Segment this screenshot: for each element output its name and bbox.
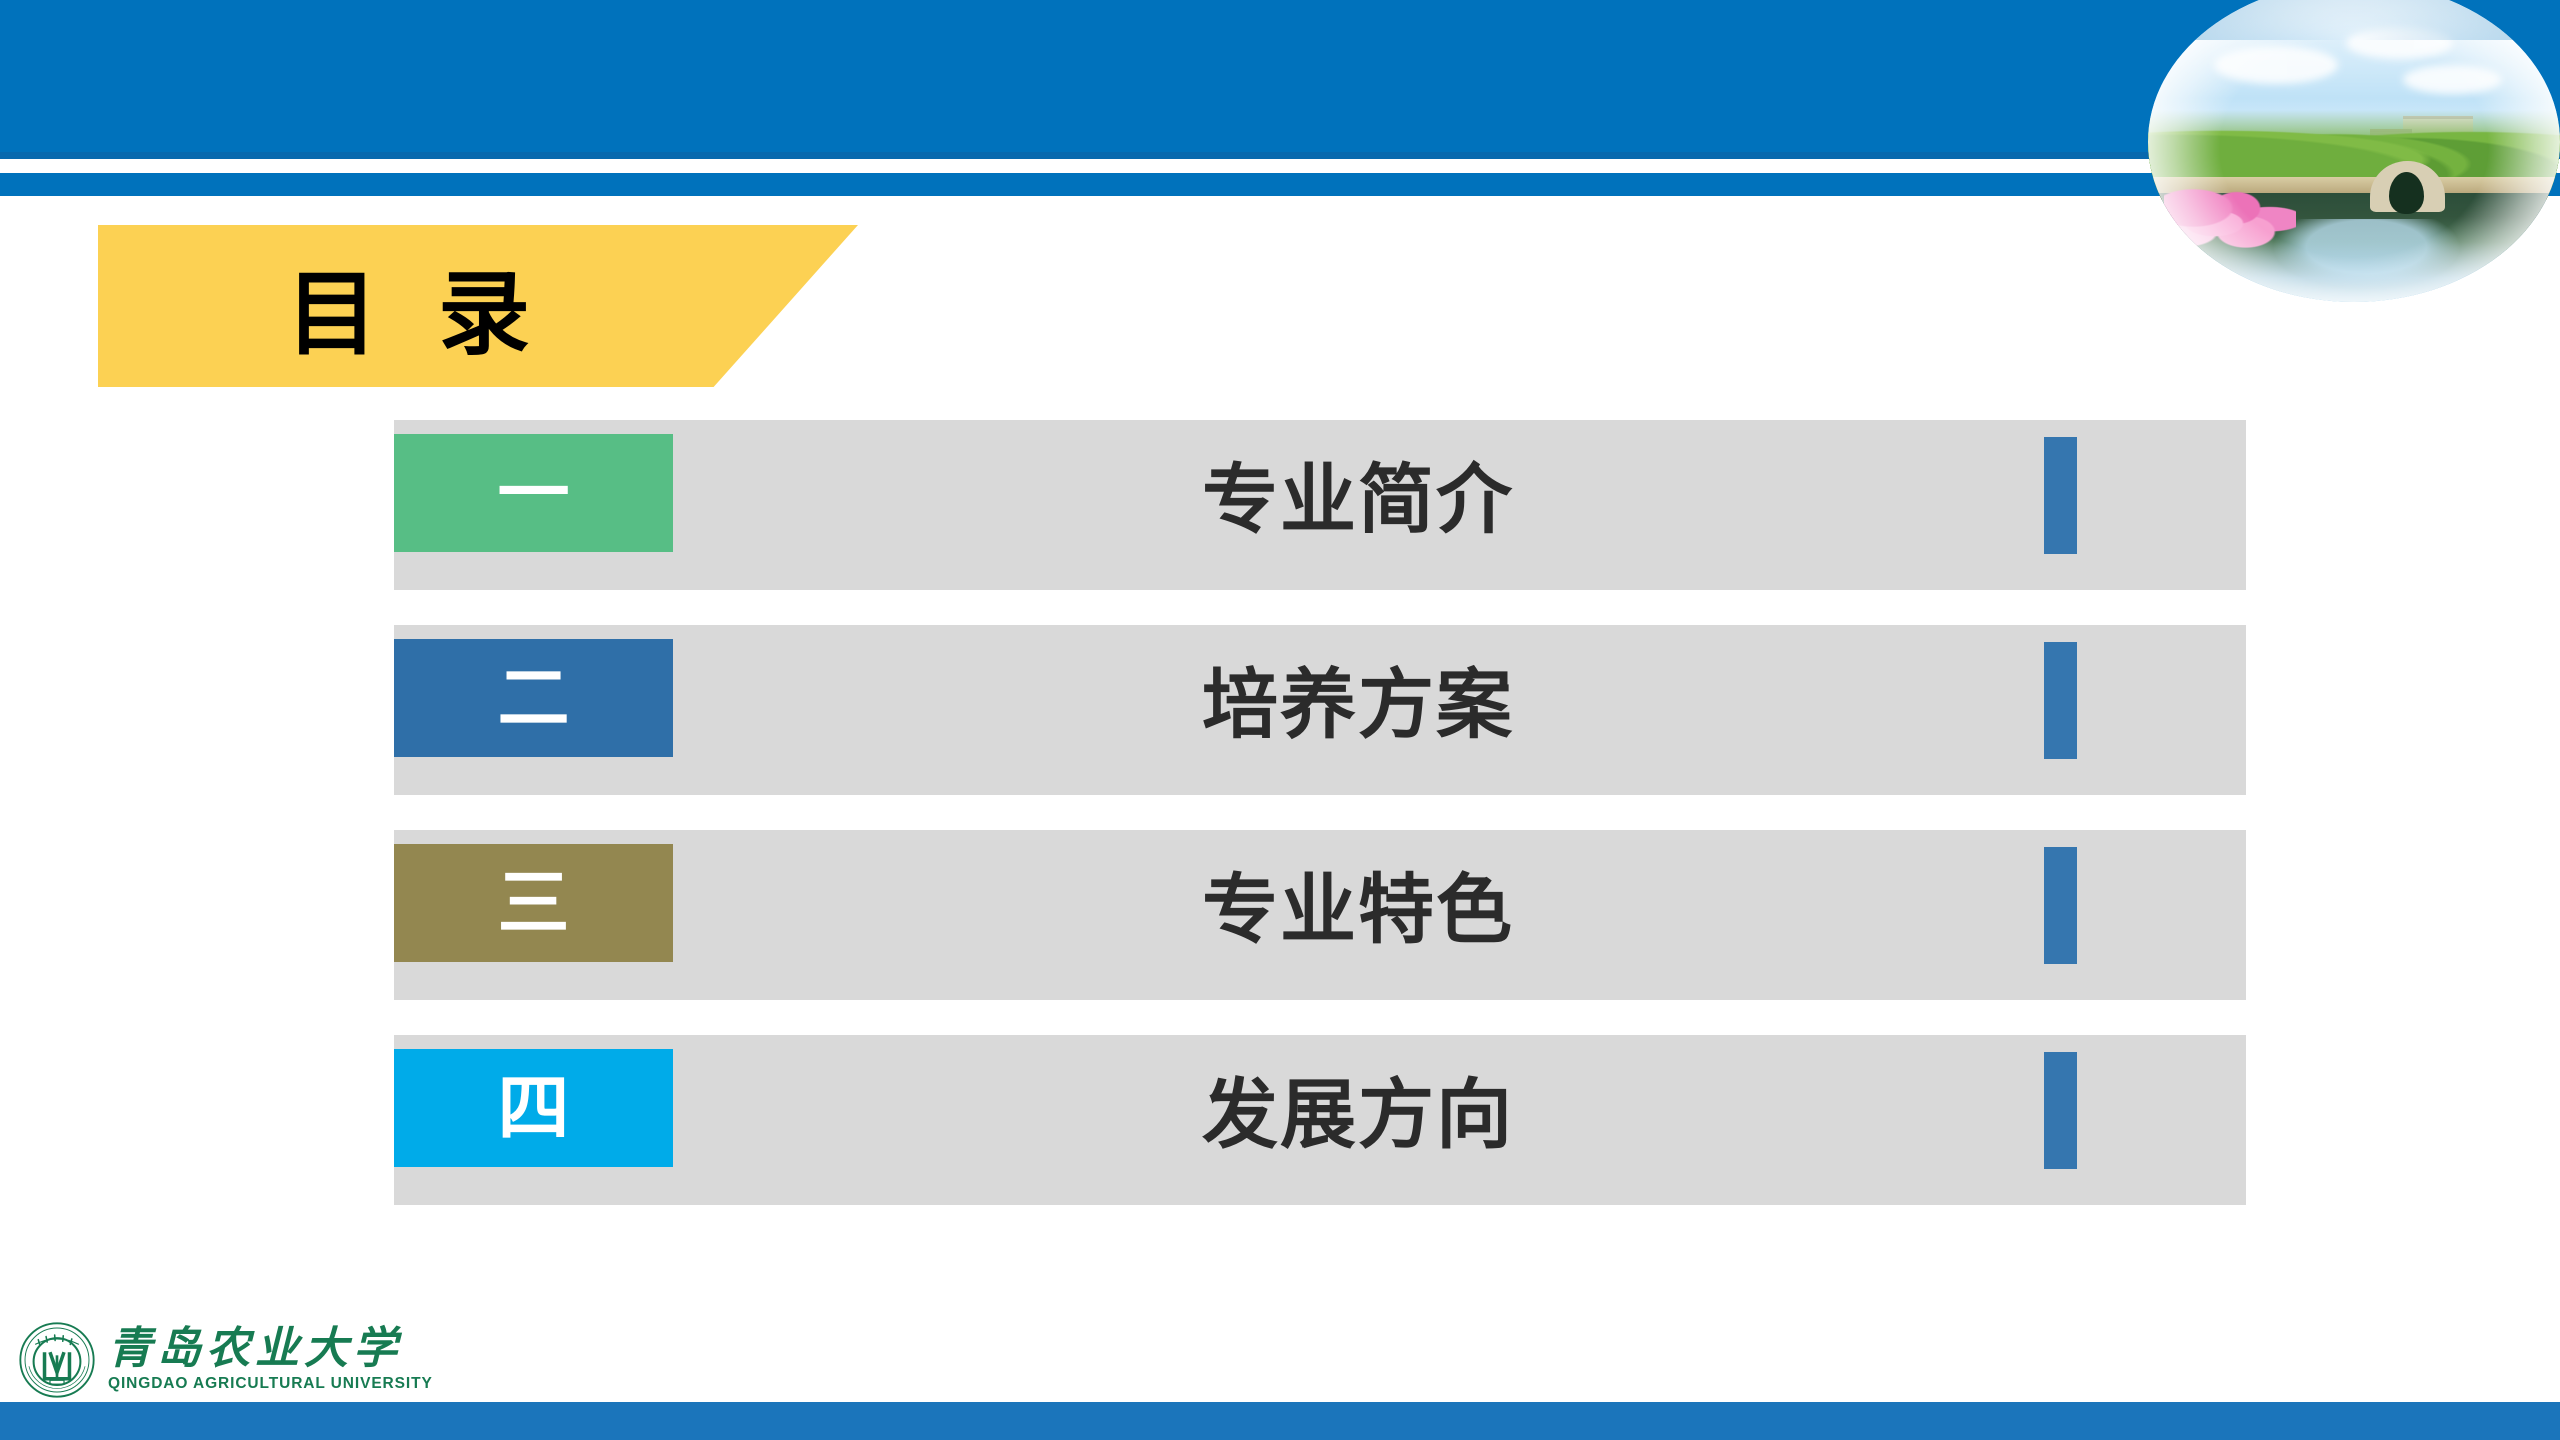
university-logo: 青岛农业大学 QINGDAO AGRICULTURAL UNIVERSITY — [18, 1315, 398, 1405]
toc-list: 一 专业简介 二 培养方案 三 专业特色 四 发展方向 — [0, 420, 2560, 1240]
toc-item-label: 专业简介 — [673, 434, 2043, 552]
toc-item-label: 发展方向 — [673, 1049, 2043, 1167]
toc-accent-tick — [2044, 437, 2077, 554]
toc-number-badge: 三 — [394, 844, 673, 962]
university-name-cn: 青岛农业大学 — [108, 1327, 433, 1372]
toc-accent-tick — [2044, 847, 2077, 964]
university-logo-text: 青岛农业大学 QINGDAO AGRICULTURAL UNIVERSITY — [108, 1327, 433, 1393]
toc-accent-tick — [2044, 1052, 2077, 1169]
toc-row[interactable]: 三 专业特色 — [394, 830, 2246, 1000]
toc-accent-tick — [2044, 642, 2077, 759]
university-seal-icon — [18, 1321, 96, 1399]
toc-row[interactable]: 二 培养方案 — [394, 625, 2246, 795]
campus-photo-oval — [2148, 0, 2560, 302]
toc-row[interactable]: 一 专业简介 — [394, 420, 2246, 590]
toc-item-label: 培养方案 — [673, 639, 2043, 757]
toc-number-badge: 一 — [394, 434, 673, 552]
photo-blue-blend-top — [2148, 0, 2560, 40]
toc-number-badge: 四 — [394, 1049, 673, 1167]
campus-photo — [2148, 0, 2560, 302]
footer-blue-band — [0, 1402, 2560, 1440]
toc-item-label: 专业特色 — [673, 844, 2043, 962]
page-title: 目 录 — [98, 225, 718, 387]
toc-row[interactable]: 四 发展方向 — [394, 1035, 2246, 1205]
university-name-en: QINGDAO AGRICULTURAL UNIVERSITY — [108, 1375, 433, 1394]
presentation-slide: 目 录 一 专业简介 二 培养方案 三 专业特色 四 发展方向 — [0, 0, 2560, 1440]
toc-number-badge: 二 — [394, 639, 673, 757]
